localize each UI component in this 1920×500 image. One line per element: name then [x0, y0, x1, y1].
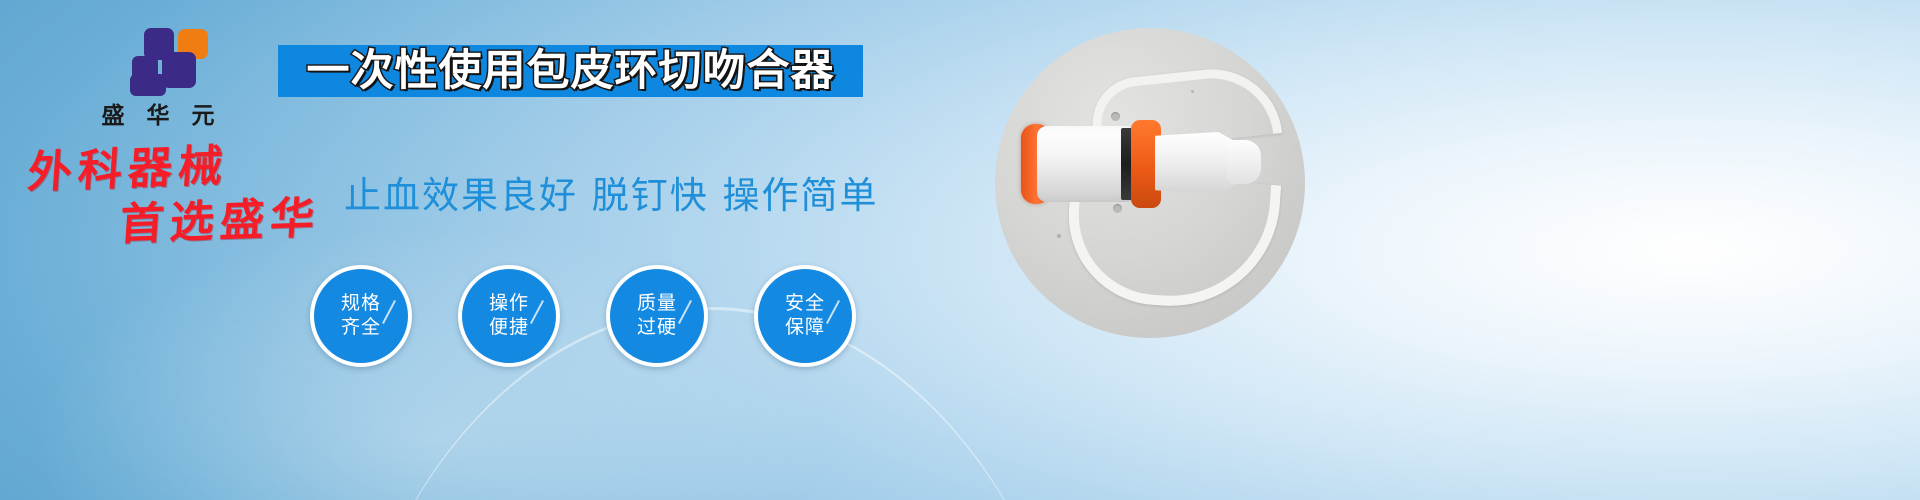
slash-decoration-icon: [382, 300, 396, 324]
product-rivet-lower: [1113, 204, 1122, 213]
product-promo-banner: 盛 华 元 一次性使用包皮环切吻合器 外科器械 首选盛华 止血效果良好 脱钉快 …: [0, 0, 1920, 500]
product-speck-lower: [1057, 234, 1061, 238]
logo-wordmark: 盛 华 元: [68, 96, 248, 130]
feature-label-line1: 规格: [341, 292, 381, 316]
feature-badge-specifications[interactable]: 规格 齐全: [310, 265, 412, 367]
logo-mark-icon: [122, 28, 194, 90]
feature-badge-quality[interactable]: 质量 过硬: [606, 265, 708, 367]
product-speck-upper: [1191, 90, 1194, 93]
feature-badges: 规格 齐全 操作 便捷 质量 过硬 安全 保障: [310, 265, 856, 367]
product-tip: [1227, 140, 1261, 184]
slash-decoration-icon: [678, 300, 692, 324]
product-image: [995, 28, 1305, 338]
feature-badge-operation[interactable]: 操作 便捷: [458, 265, 560, 367]
calligraphy-line-2: 首选盛华: [118, 197, 322, 248]
logo-block-purple-bottom: [130, 74, 166, 96]
feature-label-line1: 操作: [489, 292, 529, 316]
product-white-barrel: [1037, 126, 1133, 202]
feature-label-line2: 便捷: [489, 316, 529, 340]
product-rivet-upper: [1111, 112, 1120, 121]
logo-block-purple-center: [162, 52, 196, 88]
calligraphy-line-1: 外科器械: [26, 145, 230, 196]
slash-decoration-icon: [530, 300, 544, 324]
subtitle-text: 止血效果良好 脱钉快 操作简单: [344, 165, 879, 219]
feature-label-line2: 过硬: [637, 316, 677, 340]
feature-label-line2: 齐全: [341, 316, 381, 340]
feature-label-line1: 质量: [637, 292, 677, 316]
page-title: 一次性使用包皮环切吻合器: [307, 50, 835, 93]
title-banner-bar: 一次性使用包皮环切吻合器: [278, 45, 863, 97]
feature-label-line2: 保障: [785, 316, 825, 340]
feature-badge-safety[interactable]: 安全 保障: [754, 265, 856, 367]
brand-logo[interactable]: 盛 华 元: [68, 28, 248, 128]
calligraphy-slogan: 外科器械 首选盛华: [22, 148, 352, 258]
slash-decoration-icon: [826, 300, 840, 324]
feature-label-line1: 安全: [785, 292, 825, 316]
